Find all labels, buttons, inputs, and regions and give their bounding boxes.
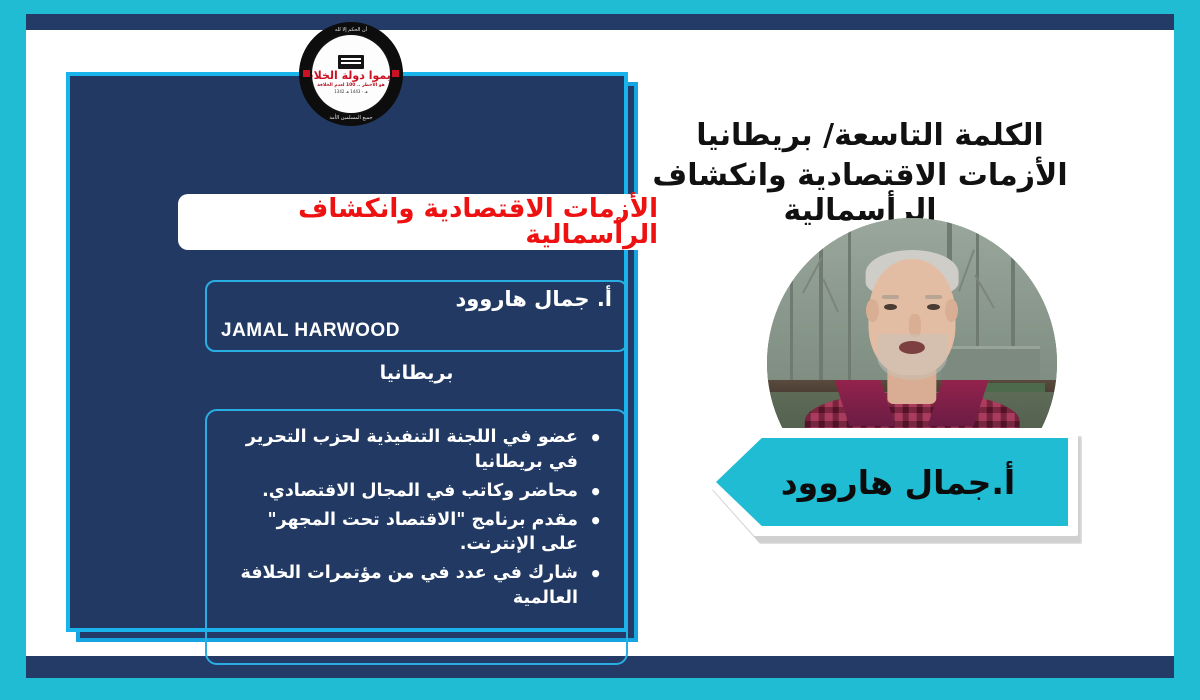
speaker-card: الأزمات الاقتصادية وانكشاف الرأسمالية أ.… (66, 72, 628, 632)
portrait-eye-right (927, 304, 940, 310)
frame-right-cyan-bar (1174, 0, 1200, 700)
name-ribbon: أ.جمال هاروود (716, 438, 1068, 526)
headline-line-1: الكلمة التاسعة/ بريطانيا (600, 118, 1140, 153)
speaker-country: بريطانيا (380, 362, 454, 384)
list-item: محاضر وكاتب في المجال الاقتصادي. (229, 479, 604, 504)
portrait-ear-left (866, 299, 879, 322)
name-ribbon-label: أ.جمال هاروود (751, 466, 1034, 499)
portrait-brow-right (925, 295, 942, 300)
list-item: عضو في اللجنة التنفيذية لحزب التحرير في … (229, 425, 604, 475)
organization-logo-icon: أن الحكم إلا لله جميع المسلمين الأمة أقي… (299, 22, 403, 126)
portrait-mouth (899, 341, 925, 354)
frame-bottom-cyan-bar (0, 678, 1200, 700)
portrait-brow-left (882, 295, 899, 300)
frame-top-cyan-bar (0, 0, 1200, 14)
logo-arc-bottom-text: جميع المسلمين الأمة (299, 115, 403, 121)
list-item: مقدم برنامج "الاقتصاد تحت المجهر" على ال… (229, 508, 604, 558)
logo-subline: هو الأخطر .. 100 لعدم الخلافة (317, 83, 385, 88)
portrait-tree (848, 230, 851, 398)
speaker-name-arabic: أ. جمال هاروود (455, 287, 612, 311)
speaker-name-box: أ. جمال هاروود JAMAL HARWOOD (205, 280, 628, 352)
portrait-tree (790, 224, 793, 404)
logo-dot-left (303, 70, 310, 77)
portrait-eye-left (884, 304, 897, 310)
logo-dot-right (392, 70, 399, 77)
logo-arabic-text: أقيموا دولة الخلافة (312, 70, 390, 81)
list-item: شارك في عدد في من مؤتمرات الخلافة العالم… (229, 561, 604, 611)
logo-inner-disc: أقيموا دولة الخلافة هو الأخطر .. 100 لعد… (312, 35, 390, 113)
frame-top-navy-bar (0, 14, 1200, 30)
speaker-bio-box: عضو في اللجنة التنفيذية لحزب التحرير في … (205, 409, 628, 665)
logo-arc-top-text: أن الحكم إلا لله (299, 27, 403, 33)
logo-subline-2: 1342 هـ - 1443 هـ (334, 89, 367, 94)
speaker-country-wrap: بريطانيا (205, 362, 628, 384)
frame-left-cyan-bar (0, 0, 26, 700)
logo-flag-icon (338, 55, 364, 69)
speaker-name-english: JAMAL HARWOOD (221, 320, 400, 342)
slide-canvas: الأزمات الاقتصادية وانكشاف الرأسمالية أ.… (0, 0, 1200, 700)
speaker-bio-list: عضو في اللجنة التنفيذية لحزب التحرير في … (229, 425, 604, 611)
